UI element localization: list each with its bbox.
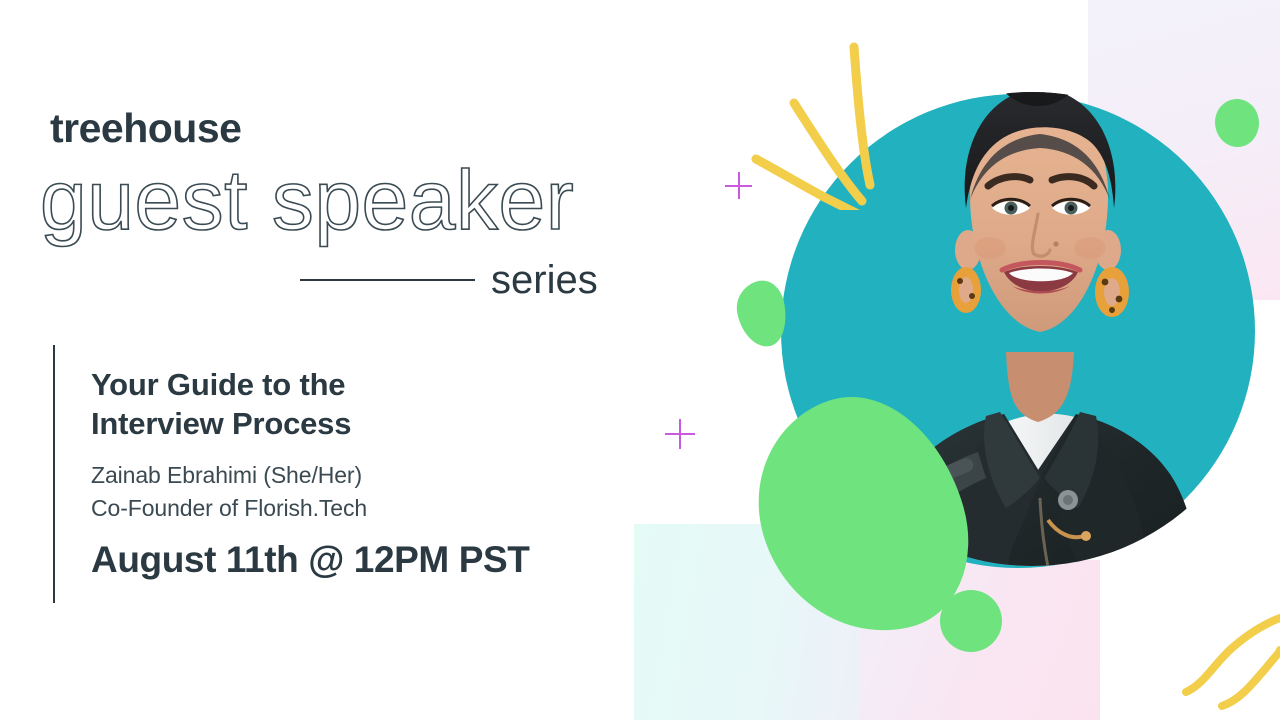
headline-outline-text: guest speaker (40, 158, 574, 242)
event-details: Your Guide to the Interview Process Zain… (91, 365, 611, 581)
series-label: series (491, 260, 598, 300)
series-divider-rule (300, 279, 475, 281)
event-title: Your Guide to the Interview Process (91, 365, 611, 443)
brand-wordmark: treehouse (50, 108, 241, 149)
text-column: treehouse guest speaker series Your Guid… (0, 0, 700, 720)
promo-graphic: treehouse guest speaker series Your Guid… (0, 0, 1280, 720)
speaker-role: Co-Founder of Florish.Tech (91, 492, 611, 525)
green-dot-bottom (940, 590, 1002, 652)
detail-accent-bar (53, 345, 55, 603)
series-row: series (300, 258, 630, 302)
green-dot-top-right (1215, 99, 1259, 147)
speaker-name: Zainab Ebrahimi (She/Her) (91, 459, 611, 492)
event-datetime: August 11th @ 12PM PST (91, 540, 611, 581)
magenta-plus-upper-icon (725, 172, 752, 199)
